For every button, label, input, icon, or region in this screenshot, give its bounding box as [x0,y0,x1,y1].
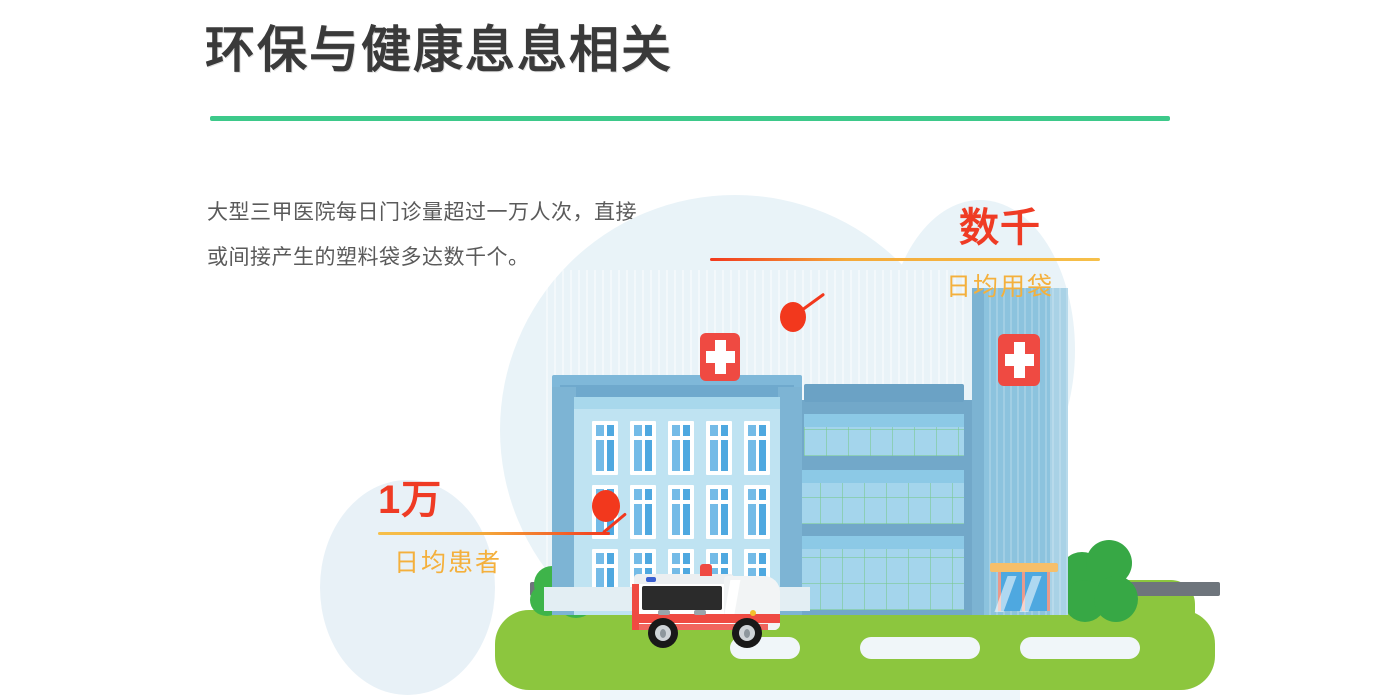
window [630,485,656,539]
glass-band [804,414,964,427]
window [592,421,618,475]
entrance-canopy [990,563,1058,572]
window [744,485,770,539]
glass-grid [798,549,964,610]
callout-patients: 1万 日均患者 [378,480,548,576]
hospital-tower [972,288,1068,615]
callout-bags-value: 数千 [900,208,1100,248]
ambulance-wheel-rear [648,618,678,648]
glass-wing-roof-bar [804,384,964,402]
ambulance-indicator-light [750,610,756,616]
window [744,421,770,475]
page-title: 环保与健康息息相关 [205,22,673,80]
entrance-door [998,572,1050,611]
window [668,485,694,539]
callout-bags-label: 日均用袋 [900,275,1100,300]
glass-band [798,470,964,483]
tower-entrance [994,563,1054,611]
window [668,421,694,475]
ambulance-door-handle [694,610,706,615]
ambulance-wheel-front [732,618,762,648]
ambulance-window [642,586,722,610]
road-marking [860,637,980,659]
window [630,421,656,475]
glass-panel-floor-2 [798,470,964,524]
title-underline-rule [210,116,1170,121]
glass-grid [798,483,964,524]
ambulance-door-handle [658,610,670,615]
slide-root: 环保与健康息息相关 大型三甲医院每日门诊量超过一万人次，直接或间接产生的塑料袋多… [0,0,1400,700]
building-facade-top-band [574,397,780,409]
ambulance-beacon-icon [700,564,712,576]
hospital-illustration: 数千 日均用袋 1万 日均患者 [300,150,1400,700]
roof-bar-inner [560,385,794,397]
tower-edge [972,288,984,615]
callout-patients-marker-dot [592,490,620,522]
window [706,485,732,539]
window [706,421,732,475]
glass-band [798,536,964,549]
callout-bags: 数千 日均用袋 [900,208,1100,300]
red-cross-icon [700,333,740,381]
building-left-pillar [552,387,576,615]
glass-grid [804,427,964,456]
tree-right [1060,540,1140,626]
road-marking [1020,637,1140,659]
glass-panel-floor-1 [798,536,964,610]
glass-panel-floor-3 [804,414,964,456]
callout-patients-label: 日均患者 [378,551,518,576]
red-cross-icon [998,334,1040,386]
callout-patients-value: 1万 [378,480,548,520]
callout-patients-rule [378,532,610,535]
glass-wing-building [790,400,975,615]
ambulance-blue-marker [646,577,656,582]
ambulance [628,562,788,652]
callout-bags-rule [710,258,1100,261]
